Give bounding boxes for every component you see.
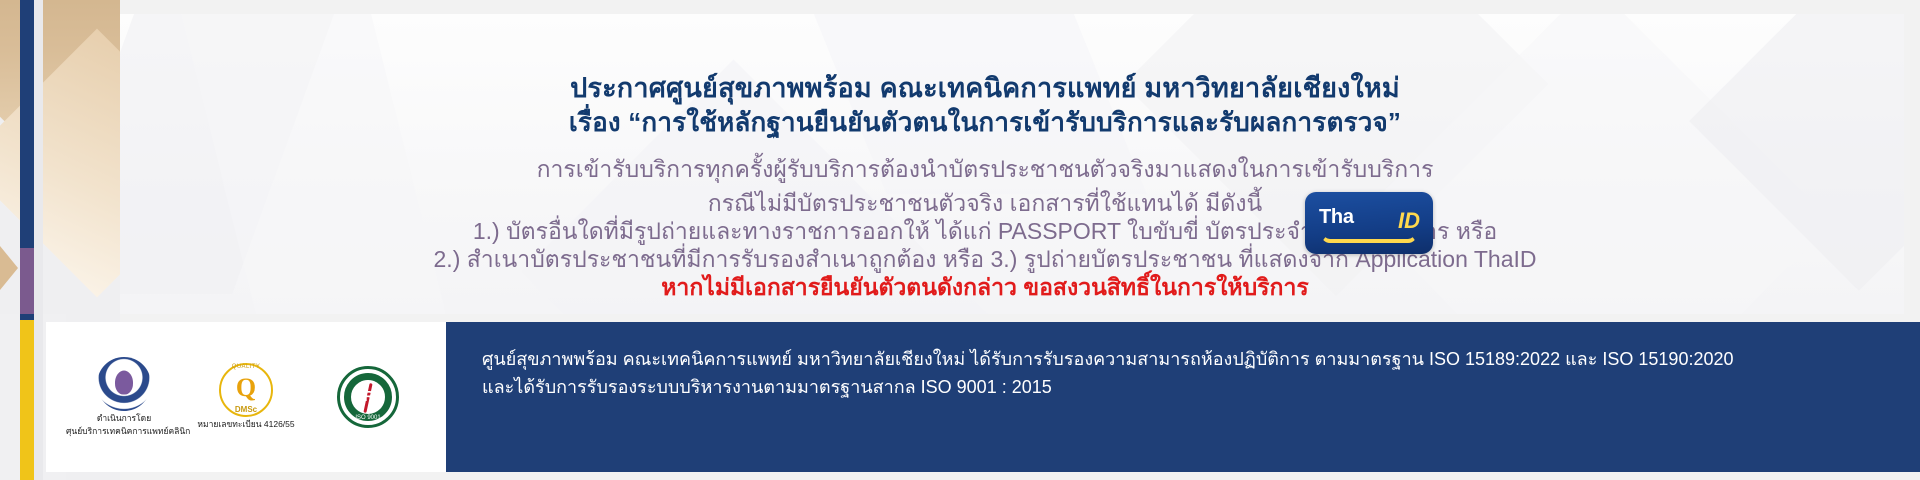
announcement-card: ประกาศศูนย์สุขภาพพร้อม คณะเทคนิคการแพทย์… [66,14,1904,314]
dmsc-seal-bottom-text: DMSc [221,405,271,414]
med-tech-clinic-seal-icon [97,357,151,411]
urs-iso-seal-icon: URS ISO 9001 [337,366,399,428]
thaid-wordmark: Tha [1319,206,1354,229]
urs-seal-iso-text: ISO 9001 [340,415,396,421]
dmsc-quality-seal-icon: QUALITY DMSc [219,363,273,417]
certification-logo-strip: ดำเนินการโดย ศุนย์บริการเทคนิคการแพทย์คล… [46,322,446,472]
logo-block-urs-iso: URS ISO 9001 [310,366,426,428]
footer-band-line-2: และได้รับการรับรองระบบบริหารงานตามมาตรฐา… [482,374,1920,402]
urs-seal-mark: URS [340,388,396,405]
announcement-body-line-1: การเข้ารับบริการทุกครั้งผู้รับบริการต้อง… [66,152,1904,188]
dmsc-seal-top-text: QUALITY [221,364,271,370]
announcement-warning-line: หากไม่มีเอกสารยืนยันตัวตนดังกล่าว ขอสงวน… [66,270,1904,306]
logo-caption-registration-number: หมายเลขทะเบียน 4126/55 [188,419,304,430]
footer-accreditation-band: ศูนย์สุขภาพพร้อม คณะเทคนิคการแพทย์ มหาวิ… [446,322,1920,472]
decor-bar-navy [20,0,34,248]
decor-triangle-marker [0,246,18,290]
footer-bar-yellow [20,320,34,480]
footer-rail-shadow-bar [34,314,43,480]
logo-block-med-tech-clinic: ดำเนินการโดย ศุนย์บริการเทคนิคการแพทย์คล… [66,357,182,437]
poster-canvas: ประกาศศูนย์สุขภาพพร้อม คณะเทคนิคการแพทย์… [0,0,1920,480]
thaid-swoosh-icon [1321,234,1417,243]
announcement-content: ประกาศศูนย์สุขภาพพร้อม คณะเทคนิคการแพทย์… [66,14,1904,314]
poster-footer: ดำเนินการโดย ศุนย์บริการเทคนิคการแพทย์คล… [0,314,1920,480]
footer-band-line-1: ศูนย์สุขภาพพร้อม คณะเทคนิคการแพทย์ มหาวิ… [482,346,1920,374]
logo-caption-line-1: ดำเนินการโดย [66,413,182,424]
logo-caption-line-2: ศุนย์บริการเทคนิคการแพทย์คลินิก [66,426,182,437]
logo-block-dmsc-quality: QUALITY DMSc หมายเลขทะเบียน 4126/55 [188,363,304,430]
thaid-logo-badge: Tha ID [1305,192,1433,254]
thaid-logo-inner: Tha ID [1305,192,1433,254]
thaid-id-mark: ID [1398,208,1420,234]
announcement-title-line-2: เรื่อง “การใช้หลักฐานยืนยันตัวตนในการเข้… [66,102,1904,143]
